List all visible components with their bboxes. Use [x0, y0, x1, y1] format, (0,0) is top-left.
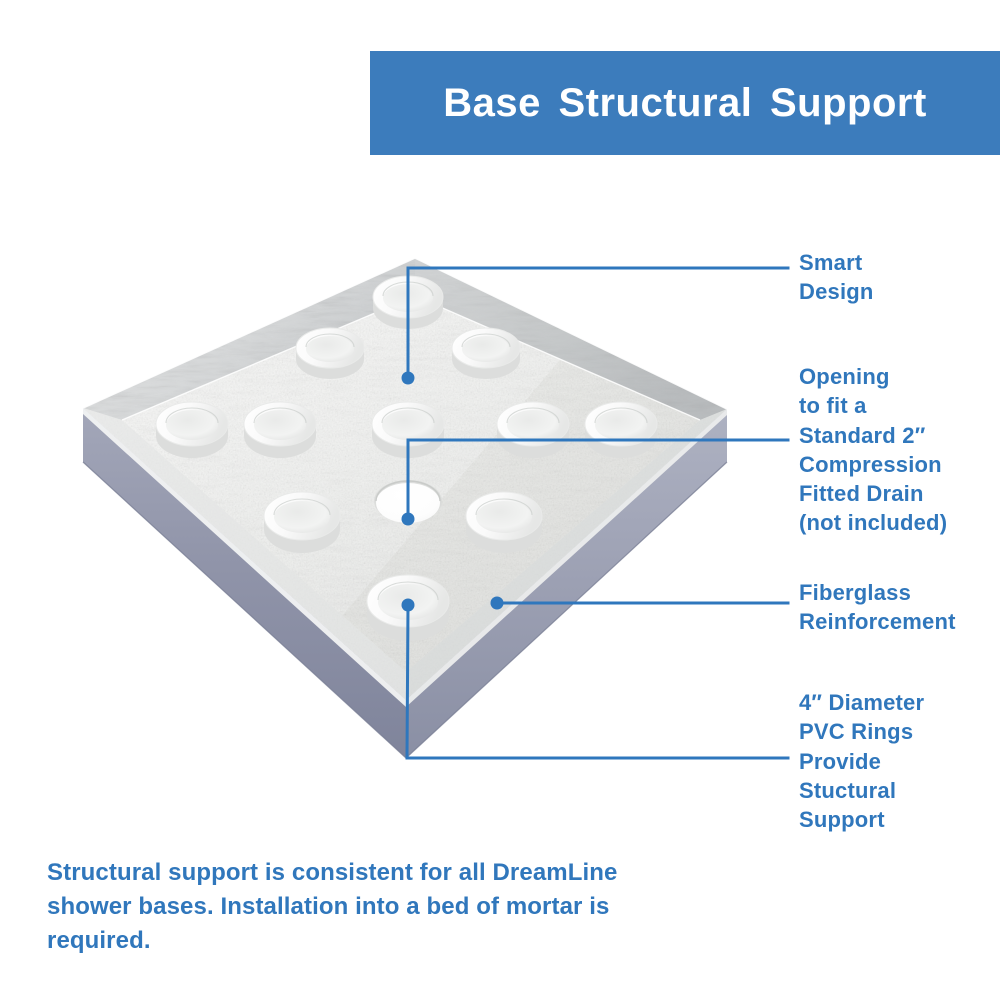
footer-caption: Structural support is consistent for all… [47, 856, 667, 958]
callout-label-opening: Opening to fit a Standard 2″ Compression… [799, 362, 999, 538]
pvc-ring [264, 492, 340, 553]
pvc-ring [585, 402, 657, 458]
pvc-ring [244, 402, 316, 458]
pvc-ring [156, 402, 228, 458]
callout-label-pvc-rings: 4″ Diameter PVC Rings Provide Stuctural … [799, 688, 999, 834]
page-title: Base Structural Support [370, 51, 1000, 155]
pvc-ring [497, 402, 569, 458]
anchor-dot-opening [402, 513, 415, 526]
anchor-dot-fiberglass [491, 597, 504, 610]
pvc-ring [296, 328, 364, 379]
callout-label-smart-design: Smart Design [799, 248, 999, 307]
pvc-ring [466, 492, 542, 553]
callout-label-fiberglass: Fiberglass Reinforcement [799, 578, 999, 637]
anchor-dot-pvc-rings [402, 599, 415, 612]
anchor-dot-smart-design [402, 372, 415, 385]
pvc-ring [452, 328, 520, 379]
